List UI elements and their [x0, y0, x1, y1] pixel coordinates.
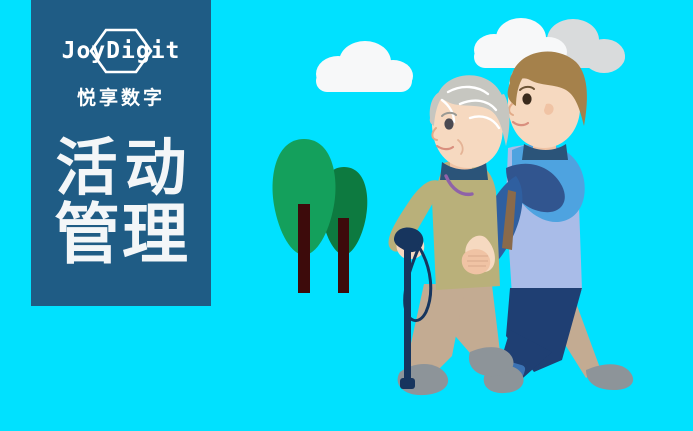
page-title: 活动 管理 — [48, 136, 193, 269]
title-panel: JoyDigit 悦享数字 活动 管理 — [31, 0, 211, 306]
poster-canvas: JoyDigit 悦享数字 活动 管理 — [0, 0, 693, 431]
brand-wordmark: JoyDigit — [62, 38, 181, 64]
page-title-line-2: 管理 — [48, 201, 193, 268]
brand-logo: JoyDigit — [46, 28, 196, 74]
brand-chinese-name: 悦享数字 — [77, 83, 165, 110]
page-title-line-1: 活动 — [48, 136, 193, 199]
